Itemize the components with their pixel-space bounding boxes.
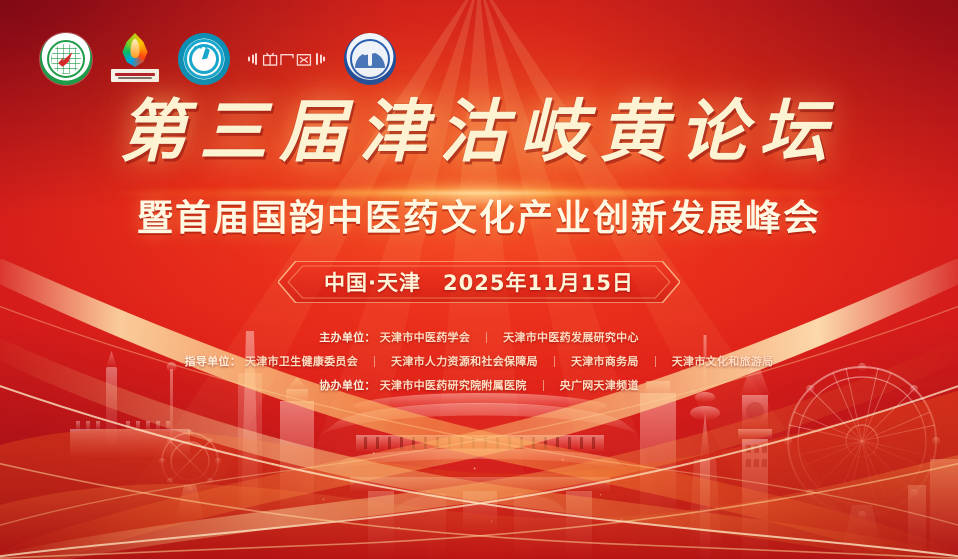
organizer-row-coorganizer: 协办单位： 天津市中医药研究院附属医院 央广网天津频道: [319, 377, 639, 393]
organizer-label: 协办单位：: [319, 377, 376, 393]
tianjin-tcm-association-logo: [40, 33, 92, 85]
organizer-row-advisor: 指导单位： 天津市卫生健康委员会 天津市人力资源和社会保障局 天津市商务局 天津…: [185, 353, 774, 369]
organizer-separator: [543, 380, 544, 391]
event-poster: ★★★★★★: [0, 0, 958, 559]
organizer-separator: [486, 332, 487, 343]
page-subtitle: 暨首届国韵中医药文化产业创新发展峰会: [0, 196, 958, 241]
event-date-banner: 中国·天津 2025年11月15日: [278, 261, 680, 303]
organizer-separator: [554, 356, 555, 367]
cnr-cn-logo: [248, 41, 326, 77]
organizer-item: 央广网天津频道: [560, 377, 639, 393]
sponsor-logo-strip: ★★★★★★: [40, 33, 396, 85]
organizer-item: 天津市中医药发展研究中心: [503, 329, 639, 345]
organizer-item: 天津市文化和旅游局: [672, 353, 774, 369]
signal-wave-right-icon: [316, 53, 326, 65]
organizer-row-host: 主办单位： 天津市中医药学会 天津市中医药发展研究中心: [319, 329, 639, 345]
organizer-separator: [374, 356, 375, 367]
organizer-item: 天津市卫生健康委员会: [245, 353, 358, 369]
organizer-item: 天津市中医药学会: [380, 329, 470, 345]
organizer-separator: [655, 356, 656, 367]
tianjin-tcm-institute-hospital-logo: [344, 33, 396, 85]
organizer-label: 指导单位：: [185, 353, 242, 369]
page-title: 第三届津沽岐黄论坛: [0, 98, 958, 166]
cnr-wordmark-icon: [261, 46, 313, 72]
event-location: 中国·天津: [324, 267, 421, 297]
organizer-item: 天津市商务局: [571, 353, 639, 369]
tianjin-tcm-development-center-logo: ★★★★★★: [178, 33, 230, 85]
signal-wave-left-icon: [248, 53, 258, 65]
organizer-label: 主办单位：: [319, 329, 376, 345]
event-date: 2025年11月15日: [443, 267, 634, 297]
organizer-credits: 主办单位： 天津市中医药学会 天津市中医药发展研究中心 指导单位： 天津市卫生健…: [0, 329, 958, 393]
poster-content: ★★★★★★: [0, 0, 958, 559]
organizer-item: 天津市中医药研究院附属医院: [380, 377, 527, 393]
tcm-culture-research-center-logo: [110, 33, 160, 85]
organizer-item: 天津市人力资源和社会保障局: [391, 353, 538, 369]
